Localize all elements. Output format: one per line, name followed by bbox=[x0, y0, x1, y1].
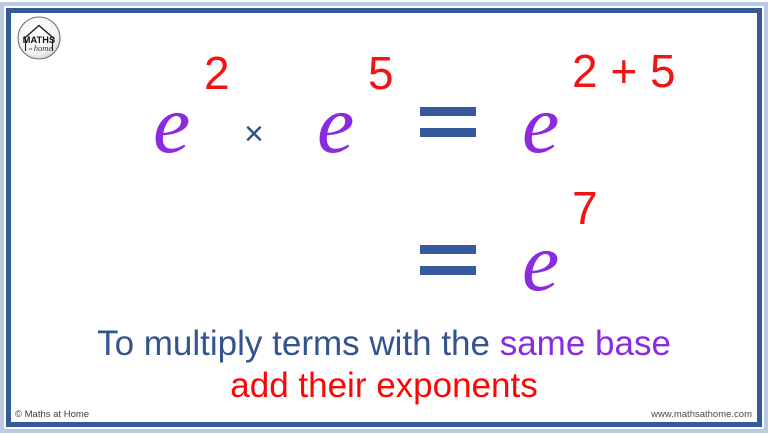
equals-bar-bottom bbox=[420, 128, 476, 137]
equation-line-2: e 7 bbox=[11, 183, 757, 303]
caption-line-1: To multiply terms with the same base bbox=[11, 324, 757, 363]
content-canvas: MATHS at home e 2 × e 5 e 2 + 5 bbox=[11, 13, 757, 422]
website-url: www.mathsathome.com bbox=[651, 409, 752, 420]
result-exponent-line-2: 7 bbox=[572, 185, 598, 231]
right-exponent: 5 bbox=[368, 50, 394, 96]
equals-sign-line-2 bbox=[420, 245, 476, 277]
equals-bar-top bbox=[420, 107, 476, 116]
multiplication-operator: × bbox=[244, 117, 264, 151]
equals-bar-top bbox=[420, 245, 476, 254]
caption-text-same-base: same base bbox=[500, 324, 671, 363]
result-exponent-line-1: 2 + 5 bbox=[572, 48, 676, 94]
equals-sign-line-1 bbox=[420, 107, 476, 139]
result-base-line-2: e bbox=[522, 221, 559, 305]
copyright-notice: © Maths at Home bbox=[15, 409, 89, 420]
result-base-line-1: e bbox=[522, 83, 559, 167]
equals-bar-bottom bbox=[420, 266, 476, 275]
left-base: e bbox=[153, 83, 190, 167]
equation-line-1: e 2 × e 5 e 2 + 5 bbox=[11, 25, 757, 155]
caption-line-2: add their exponents bbox=[11, 366, 757, 405]
caption-text-add-exponents: add their exponents bbox=[230, 366, 537, 405]
poster: MATHS at home e 2 × e 5 e 2 + 5 bbox=[0, 0, 768, 435]
caption-text-blue: To multiply terms with the bbox=[97, 324, 500, 363]
left-exponent: 2 bbox=[204, 50, 230, 96]
right-base: e bbox=[317, 83, 354, 167]
